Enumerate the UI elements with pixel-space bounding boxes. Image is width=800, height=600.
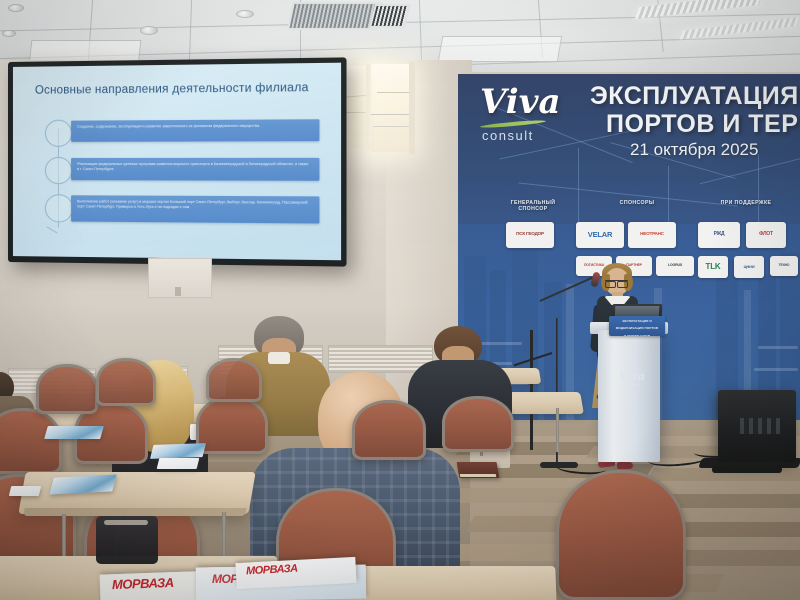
presentation-screen[interactable]: Основные направления деятельности филиал… [8,57,347,266]
ceiling-vent-small [369,4,411,28]
chair [0,408,62,474]
lectern-sign-line2: МОДЕРНИЗАЦИЯ ПОРТОВ [609,323,665,330]
lectern-sign: ЭКСПЛУАТАЦИЯ И МОДЕРНИЗАЦИЯ ПОРТОВ И ТЕР… [609,316,665,336]
slide-node [45,157,72,184]
brochure[interactable] [150,443,206,459]
chair-foreground-far-right [556,470,686,600]
tv-mount-plate [175,287,181,296]
sponsor-logo: ПСК ГЕОДОР [506,222,554,248]
banner-category-sponsors: СПОНСОРЫ [592,200,682,206]
sponsor-logo: ЦНИИ [734,256,764,278]
sponsor-logo: ТЕХНО [770,256,798,276]
ceiling-light [236,10,254,18]
monitor-ports [740,418,780,434]
window-frame [409,62,415,154]
cat-line1: СПОНСОРЫ [620,200,655,206]
viva-logo-text: Viva [480,82,560,122]
slide-node [45,120,72,147]
banner-title-line1: ЭКСПЛУАТАЦИЯ И М [590,82,800,111]
monitor-foot [712,466,782,473]
slide-node [45,194,73,222]
cat-line2: СПОНСОР [518,206,547,212]
slide-bullet-text: Создание, содержание, эксплуатация и раз… [71,119,315,134]
lectern [598,330,660,462]
brochure[interactable] [44,426,104,439]
sponsor-logo: LOGRUS [656,256,694,276]
chair-back-row [36,364,98,414]
sponsor-logo: РЖД [698,222,740,248]
sponsor-logo: ФЛОТ [746,222,786,248]
chair [196,396,268,454]
chair-back-row [96,358,156,406]
slide-bullet-bar: Создание, содержание, эксплуатация и раз… [71,119,319,142]
chair [442,396,514,452]
ceiling-light [2,30,16,37]
microphone-stand-pole-secondary [530,330,533,450]
slide-bullet-text: Выполнение работ (оказание услуг) в морс… [71,195,315,215]
banner-title-line2: ПОРТОВ И ТЕР [606,110,798,139]
ceiling-light [140,26,158,35]
window [371,64,411,152]
slide-title: Основные направления деятельности филиал… [35,82,309,97]
chair-back-row [206,358,262,402]
banner-category-support: ПРИ ПОДДЕРЖКЕ [698,200,794,206]
brochure[interactable] [49,474,117,494]
chair [352,400,426,460]
cat-line1: ПРИ ПОДДЕРЖКЕ [721,200,772,206]
conference-room-photo: Основные направления деятельности филиал… [0,0,800,600]
slide-surface: Основные направления деятельности филиал… [13,63,341,261]
banner-category-general-sponsor: ГЕНЕРАЛЬНЫЙ СПОНСОР [488,200,578,212]
lectern-logo-subtext: consult [617,383,647,387]
slide-bullet-bar: Выполнение работ (оказание услуг) в морс… [71,195,319,223]
lectern-logo: Viva consult [617,370,647,392]
slide-bullet-text: Реализация федеральных целевых программ … [71,158,315,177]
banner-date: 21 октября 2025 [630,140,758,160]
speaker-shoe [617,462,633,469]
magazine-title: МОРВАЗА [112,575,174,592]
slide-bullet-bar: Реализация федеральных целевых программ … [71,158,319,181]
brochure-white[interactable] [9,486,41,496]
sponsor-logo: НЕОТРАНС [628,222,676,248]
sponsor-logo: TLK [698,256,728,278]
lectern-sign-line3: И ТЕРМИНАЛОВ [609,331,665,336]
lectern-logo-text: Viva [619,370,645,383]
eyeglasses-icon [605,280,628,285]
brochure-white[interactable] [157,458,200,469]
lectern-sign-line1: ЭКСПЛУАТАЦИЯ И [609,316,665,323]
viva-logo-subtext: consult [482,128,534,143]
sponsor-logo: VELAR [576,222,624,248]
ceiling-light [8,4,24,12]
